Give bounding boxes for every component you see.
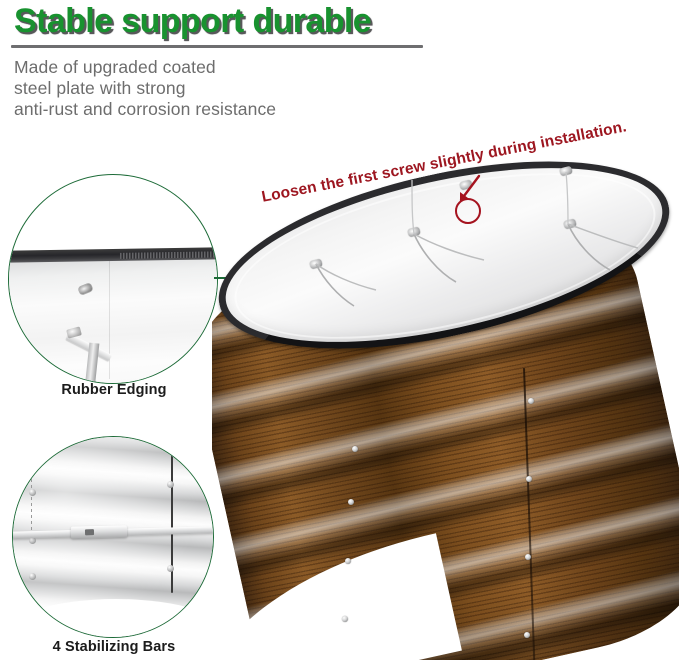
- bed-screw: [528, 398, 534, 404]
- product-feature-graphic: Stable support durable Made of upgraded …: [0, 0, 679, 660]
- bed-screw: [524, 632, 530, 638]
- zoom-screw-icon: [167, 565, 174, 572]
- callout-circle-rubber-edging: [8, 174, 218, 384]
- zoom-screw-icon: [29, 573, 36, 580]
- zoom-screw-icon: [167, 481, 174, 488]
- annotation-arrow-icon: [447, 174, 487, 208]
- bed-screw: [345, 558, 351, 564]
- callout-circle-stabilizing-bars: [12, 436, 214, 638]
- bed-screw: [526, 476, 532, 482]
- zoom-screw-icon: [29, 489, 36, 496]
- zoom-metal-panel: [8, 259, 218, 384]
- bed-screw: [348, 499, 354, 505]
- bed-screw: [525, 554, 531, 560]
- zoom-panel-seam: [109, 261, 110, 379]
- bed-screw: [342, 616, 348, 622]
- page-subtitle: Made of upgraded coated steel plate with…: [14, 57, 444, 120]
- callout-rubber-edging: Rubber Edging: [8, 174, 220, 406]
- callout-stabilizing-bars: 4 Stabilizing Bars: [8, 436, 220, 658]
- callout-label-stabilizing-bars: 4 Stabilizing Bars: [8, 639, 220, 655]
- page-title: Stable support durable: [14, 2, 371, 41]
- title-underline: [11, 45, 423, 48]
- bed-screw: [352, 446, 358, 452]
- zoom-bar-coupler: [71, 525, 127, 538]
- product-image-raised-garden-bed: [212, 150, 679, 660]
- callout-label-rubber-edging: Rubber Edging: [8, 382, 220, 398]
- zoom-panel-edge-line: [31, 455, 32, 541]
